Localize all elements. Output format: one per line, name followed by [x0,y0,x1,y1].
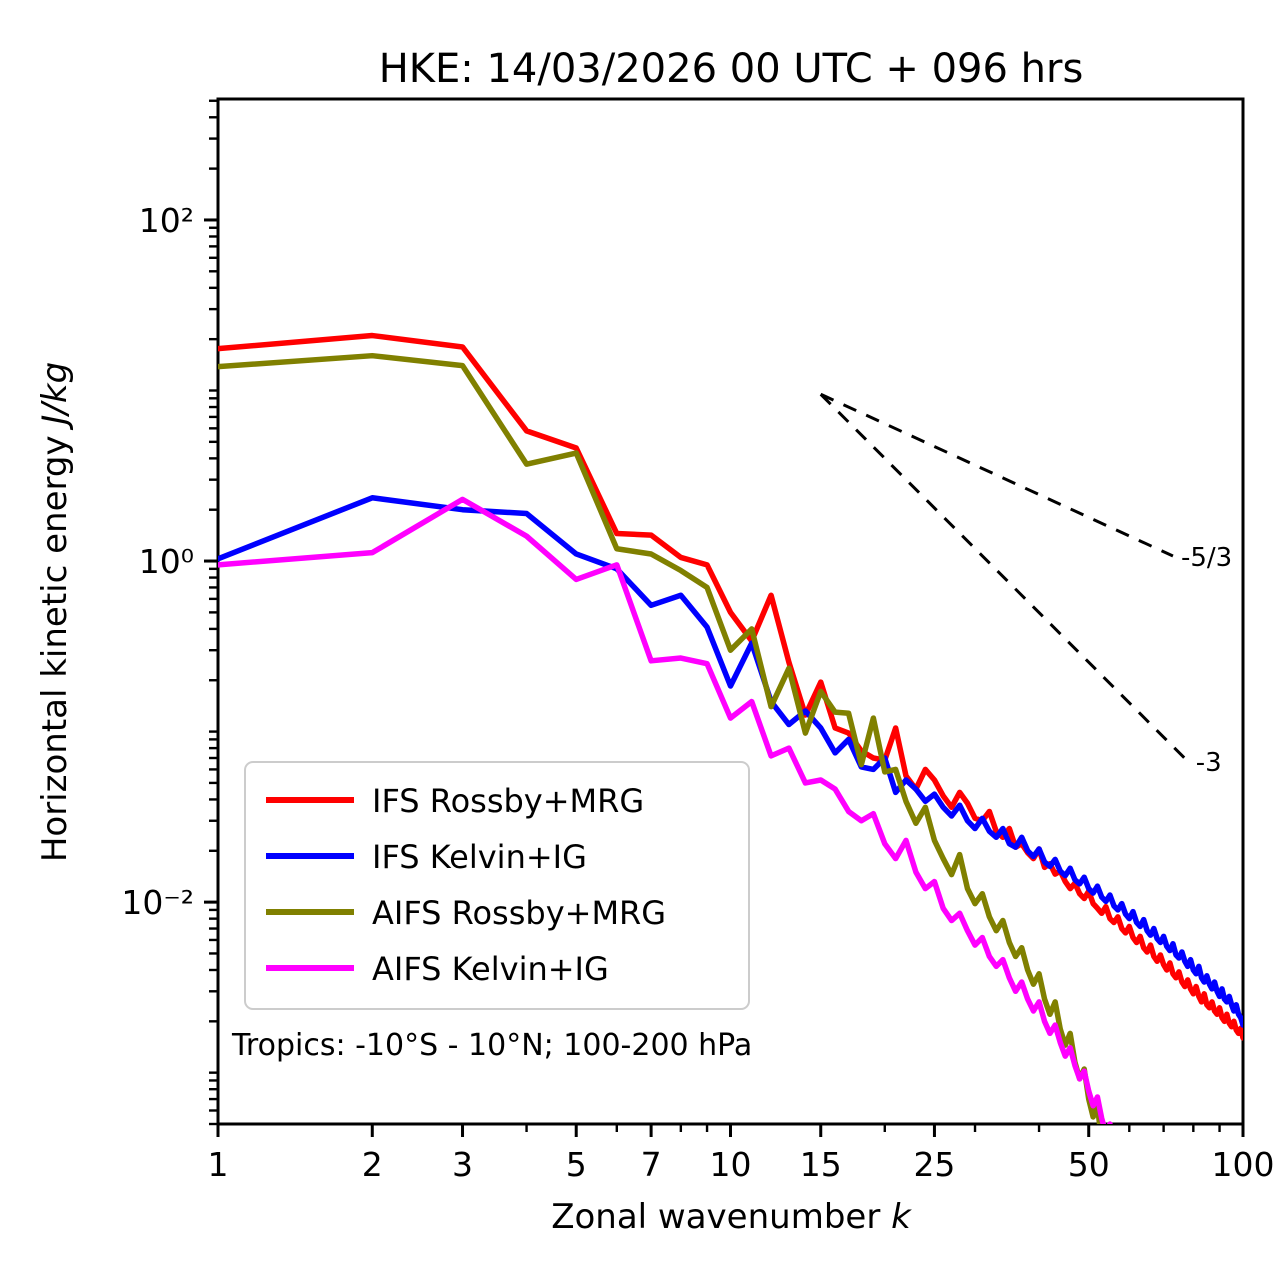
x-tick-label-3: 3 [452,1145,473,1184]
x-tick-label-1: 1 [208,1145,229,1184]
x-tick-label-10: 10 [710,1145,752,1184]
y-axis-ticks: 10²10⁰10⁻² [121,201,218,922]
y-tick-label-1: 10⁰ [139,542,194,581]
legend-label-2: AIFS Rossby+MRG [372,894,666,932]
slope-line--3 [821,394,1188,761]
slope-reference-lines: -5/3-3 [821,394,1232,778]
y-axis-label: Horizontal kinetic energy J/kg [35,362,75,862]
legend-label-0: IFS Rossby+MRG [372,782,644,820]
y-tick-label-0: 10² [139,201,194,240]
x-axis-ticks: 1235710152550100 [208,1124,1275,1184]
x-tick-label-5: 5 [566,1145,587,1184]
legend-label-3: AIFS Kelvin+IG [372,950,609,988]
x-tick-label-2: 2 [362,1145,383,1184]
x-tick-label-50: 50 [1068,1145,1110,1184]
legend-label-1: IFS Kelvin+IG [372,838,587,876]
x-tick-label-7: 7 [641,1145,662,1184]
chart-title: HKE: 14/03/2026 00 UTC + 096 hrs [379,46,1084,92]
legend[interactable]: IFS Rossby+MRGIFS Kelvin+IGAIFS Rossby+M… [245,762,749,1009]
region-annotation: Tropics: -10°S - 10°N; 100-200 hPa [231,1028,752,1063]
x-tick-label-15: 15 [800,1145,842,1184]
x-tick-label-100: 100 [1212,1145,1275,1184]
figure-canvas: HKE: 14/03/2026 00 UTC + 096 hrs 1235710… [0,0,1280,1288]
slope-line--5/3 [821,394,1173,556]
x-tick-label-25: 25 [913,1145,955,1184]
slope-label--3: -3 [1196,748,1222,778]
y-tick-label-2: 10⁻² [121,883,194,922]
x-axis-label: Zonal wavenumber k [551,1197,912,1237]
slope-label--5/3: -5/3 [1181,543,1232,573]
spectrum-chart: HKE: 14/03/2026 00 UTC + 096 hrs 1235710… [0,0,1280,1288]
